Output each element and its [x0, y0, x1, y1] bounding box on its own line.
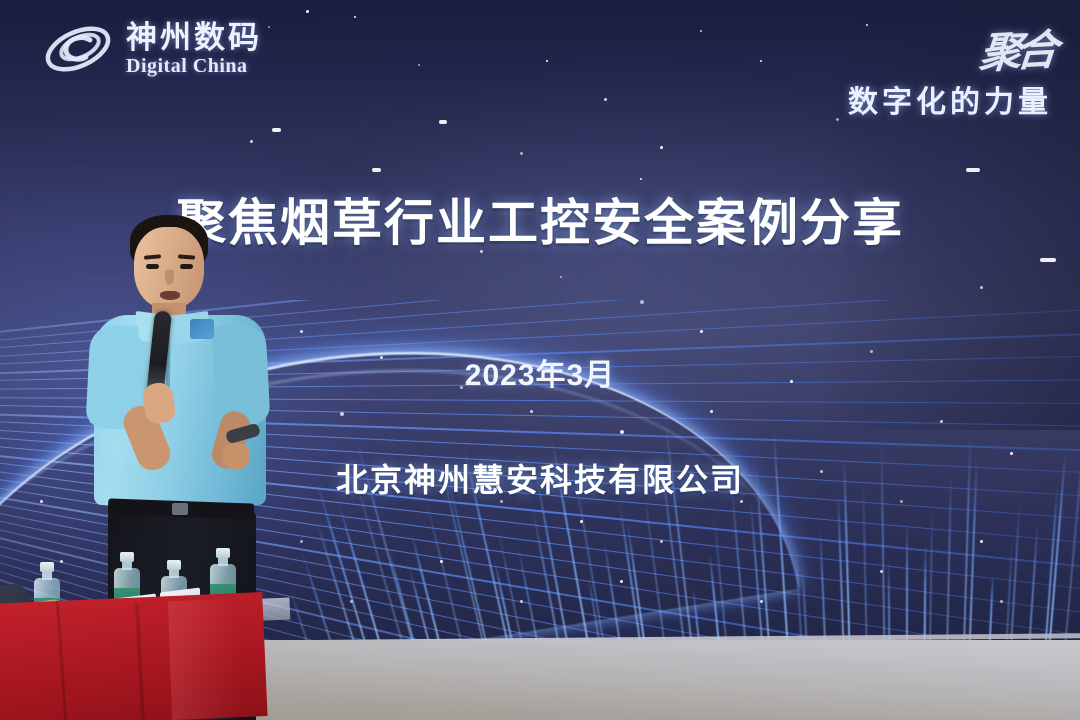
particle: [640, 300, 644, 304]
presenter-eye-left: [146, 264, 159, 269]
particle: [710, 410, 713, 413]
particle: [250, 140, 253, 143]
digital-china-logo: 神州数码 Digital China: [40, 16, 262, 82]
particle: [439, 120, 447, 124]
particle: [340, 412, 344, 416]
particle: [880, 570, 883, 573]
particle: [966, 168, 980, 172]
particle: [580, 520, 583, 523]
particle: [546, 60, 548, 62]
slogan-subtitle: 数字化的力量: [848, 77, 1052, 121]
event-slogan: 聚合 数字化的力量: [848, 18, 1052, 121]
presenter-sleeve-right: [211, 324, 270, 427]
presenter-hand-right: [222, 443, 250, 469]
particle: [940, 420, 943, 423]
table-cloth-highlight: [168, 599, 242, 720]
particle: [836, 118, 839, 121]
presenter-mouth: [160, 291, 180, 300]
particle: [604, 98, 607, 101]
brand-name-en: Digital China: [126, 56, 262, 76]
digital-china-swirl-logo: [40, 16, 116, 82]
particle: [760, 600, 763, 603]
particle: [640, 178, 642, 180]
particle: [300, 330, 303, 333]
brand-name-cn: 神州数码: [126, 22, 262, 53]
presenter-nose: [165, 270, 174, 285]
presenter-belt-buckle: [172, 503, 188, 515]
particle: [372, 168, 381, 172]
particle: [440, 560, 443, 563]
particle: [60, 560, 63, 563]
particle: [1040, 258, 1056, 262]
particle: [530, 410, 533, 413]
brand-wordmark: 神州数码 Digital China: [126, 22, 262, 76]
bottle-cap: [40, 562, 54, 572]
shirt-logo-icon: [190, 319, 214, 339]
particle: [268, 26, 270, 28]
particle: [350, 600, 353, 603]
particle: [700, 330, 703, 333]
bottle-cap: [216, 548, 230, 558]
bottle-cap: [120, 552, 134, 562]
particle: [660, 540, 663, 543]
particle: [1000, 600, 1003, 603]
particle: [306, 10, 309, 13]
bottle-cap: [167, 560, 181, 570]
particle: [760, 60, 762, 62]
particle: [300, 540, 303, 543]
particle: [272, 128, 281, 132]
particle: [354, 16, 356, 18]
particle: [520, 600, 523, 603]
slogan-calligraphy: 聚合: [977, 16, 1055, 81]
particle: [980, 286, 983, 289]
presenter-eye-right: [180, 264, 193, 269]
conference-photo-stage: 神州数码 Digital China 聚合 数字化的力量 聚焦烟草行业工控安全案…: [0, 0, 1080, 720]
particle: [700, 30, 702, 32]
particle: [520, 152, 523, 155]
particle: [620, 580, 623, 583]
particle: [620, 430, 624, 434]
particle: [660, 146, 663, 149]
particle: [560, 276, 562, 278]
particle: [418, 64, 420, 66]
particle: [980, 540, 983, 543]
